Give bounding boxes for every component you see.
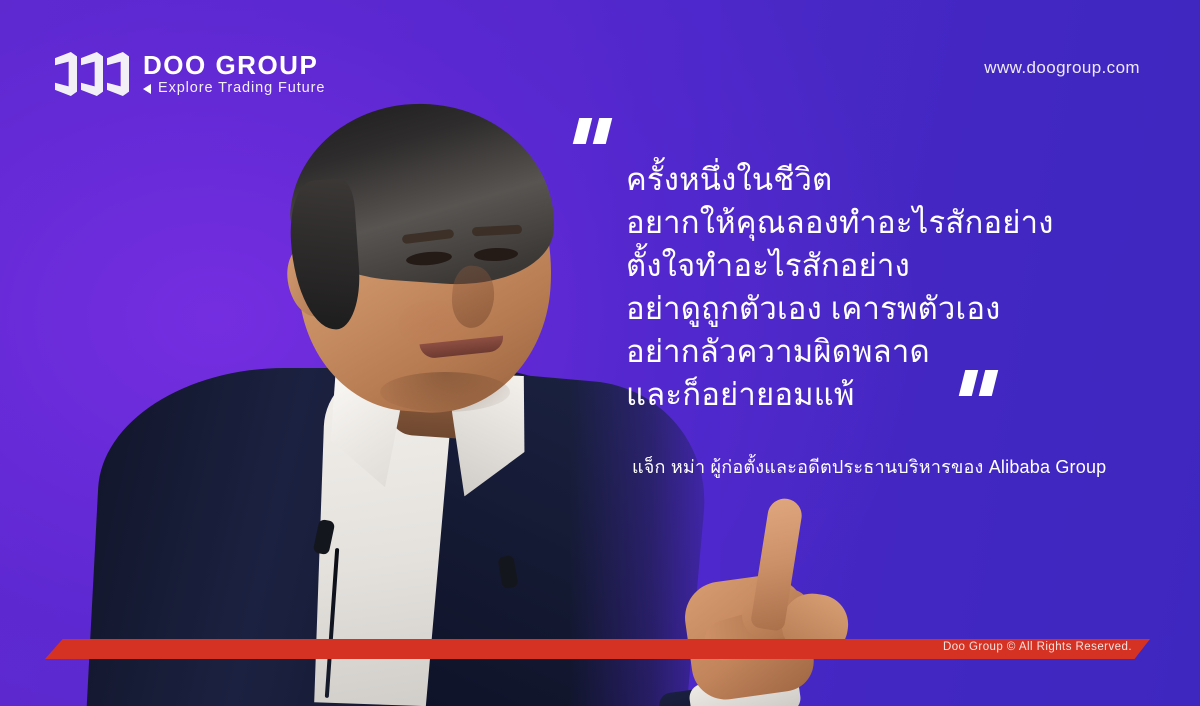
poster-canvas: DOO GROUP Explore Trading Future www.doo… (0, 0, 1200, 706)
footer-copyright: Doo Group © All Rights Reserved. (943, 641, 1132, 653)
chin-shadow (380, 372, 510, 412)
doo-group-logo[interactable]: DOO GROUP Explore Trading Future (55, 52, 325, 96)
logo-tagline-row: Explore Trading Future (143, 81, 325, 96)
quote-attribution: แจ็ก หม่า ผู้ก่อตั้งและอดีตประธานบริหารข… (632, 452, 1106, 481)
quote-line-2: อยากให้คุณลองทำอะไรสักอย่าง (626, 201, 1172, 244)
hair-sideburn (287, 178, 363, 332)
logo-bar-2-icon (81, 52, 103, 96)
logo-bar-3-icon (107, 52, 129, 96)
logo-wordmark: DOO GROUP Explore Trading Future (143, 52, 325, 96)
doo-logo-mark-icon (55, 52, 129, 96)
close-quote-bar-1-icon (959, 370, 978, 396)
close-quote-bar-2-icon (979, 370, 998, 396)
quote-line-3: ตั้งใจทำอะไรสักอย่าง (626, 244, 1172, 287)
quote-line-1: ครั้งหนึ่งในชีวิต (626, 158, 1172, 201)
close-quote-mark-icon (962, 370, 1172, 396)
logo-bar-1-icon (55, 52, 77, 96)
open-quote-mark-icon (576, 118, 1172, 144)
site-url-link[interactable]: www.doogroup.com (984, 58, 1140, 78)
play-triangle-icon (143, 84, 151, 94)
logo-tagline: Explore Trading Future (158, 81, 325, 96)
quote-block: ครั้งหนึ่งในชีวิต อยากให้คุณลองทำอะไรสัก… (572, 118, 1172, 396)
quote-line-4: อย่าดูถูกตัวเอง เคารพตัวเอง (626, 287, 1172, 330)
logo-title: DOO GROUP (143, 52, 325, 78)
open-quote-bar-2-icon (593, 118, 612, 144)
pointing-hand (660, 490, 910, 706)
open-quote-bar-1-icon (573, 118, 592, 144)
quote-line-5: อย่ากลัวความผิดพลาด (626, 330, 1172, 373)
